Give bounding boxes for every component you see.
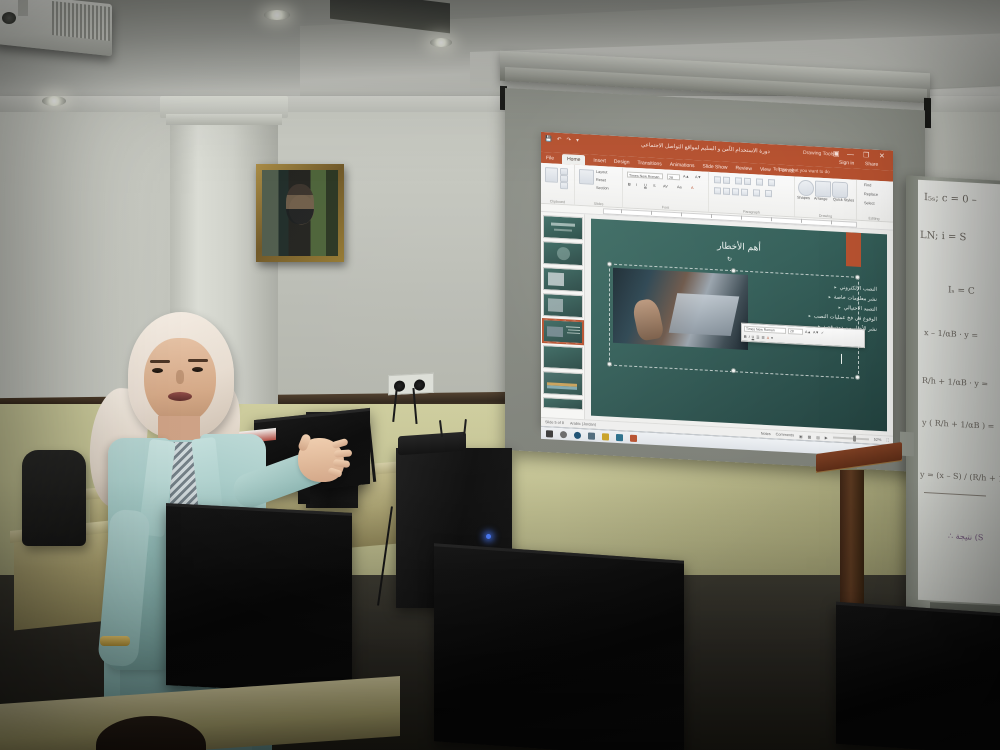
mini-format-painter-icon[interactable]: ✓ bbox=[821, 331, 824, 335]
close-button[interactable]: ✕ bbox=[879, 153, 885, 160]
font-color-icon[interactable]: A bbox=[691, 186, 694, 190]
start-icon[interactable] bbox=[546, 430, 553, 437]
tab-review[interactable]: Review bbox=[736, 165, 752, 172]
whiteboard-equation: Iₛ = C bbox=[948, 285, 975, 296]
finger bbox=[333, 459, 351, 468]
bold-icon[interactable]: B bbox=[628, 183, 631, 187]
convert-smartart-icon[interactable] bbox=[765, 190, 772, 197]
quick-access-toolbar[interactable]: 💾 ↶ ↷ ▾ bbox=[545, 136, 579, 144]
projector-mount-arm bbox=[18, 0, 28, 16]
zoom-level: 52% bbox=[874, 438, 882, 442]
monitor-foreground-center bbox=[434, 543, 684, 750]
italic-icon[interactable]: I bbox=[636, 183, 637, 187]
contextual-tab-label: Drawing Tools bbox=[803, 150, 834, 158]
whiteboard-stand-knob bbox=[900, 432, 914, 457]
task-view-icon[interactable] bbox=[588, 432, 595, 439]
downlight-icon bbox=[42, 96, 66, 106]
share-button[interactable]: Share bbox=[865, 161, 878, 168]
quick-styles-label[interactable]: Quick Styles bbox=[833, 197, 854, 202]
view-slideshow-icon[interactable]: ▶ bbox=[825, 435, 828, 440]
tab-animations[interactable]: Animations bbox=[670, 161, 695, 168]
sign-in-button[interactable]: Sign in bbox=[839, 160, 854, 167]
wristwatch bbox=[100, 636, 130, 646]
portrait-face bbox=[286, 184, 314, 224]
character-spacing-icon[interactable]: AV bbox=[663, 184, 668, 188]
lectern-column bbox=[840, 470, 864, 618]
thumb bbox=[297, 433, 312, 452]
underline-icon[interactable]: U bbox=[644, 183, 647, 187]
monitor-foreground-left bbox=[166, 503, 352, 695]
downlight-icon bbox=[264, 10, 290, 20]
left-hand bbox=[96, 650, 130, 692]
ribbon-group-editing[interactable]: Find Replace Select Editing bbox=[857, 180, 891, 222]
whiteboard-equation: I₅ₛ; c = 0 – bbox=[924, 192, 977, 206]
slide-thumbnail[interactable] bbox=[543, 293, 583, 318]
finger bbox=[327, 467, 342, 478]
ribbon-group-clipboard[interactable]: Clipboard bbox=[541, 163, 575, 205]
language-indicator[interactable]: Arabic (Jordan) bbox=[570, 421, 596, 426]
ribbon-group-font[interactable]: Times New Roman 28 A▲ A▼ B I U S AV Aa A… bbox=[623, 167, 709, 212]
screen-side-rail-right bbox=[924, 98, 931, 128]
tab-home[interactable]: Home bbox=[562, 154, 585, 165]
projection-screen: 💾 ↶ ↷ ▾ دورة الاستخدام الآمن و السليم لم… bbox=[505, 88, 925, 472]
tab-file[interactable]: File bbox=[546, 155, 554, 161]
mini-font-size[interactable]: 28 bbox=[788, 328, 803, 335]
quick-styles-icon[interactable] bbox=[832, 181, 848, 198]
tab-transitions[interactable]: Transitions bbox=[638, 160, 662, 167]
lectern bbox=[816, 448, 902, 618]
section-label[interactable]: Section bbox=[596, 186, 609, 191]
whiteboard-equation: y = (x – S) / (R/h + 1/αB) bbox=[920, 470, 1000, 485]
current-slide[interactable]: أهم الأخطار ↻ bbox=[591, 219, 887, 432]
tab-slide-show[interactable]: Slide Show bbox=[703, 163, 728, 170]
explorer-icon[interactable] bbox=[602, 433, 609, 440]
text-direction-icon[interactable] bbox=[768, 179, 775, 186]
bullets-icon[interactable] bbox=[714, 176, 721, 183]
fit-to-window-icon[interactable]: ⛶ bbox=[886, 438, 889, 442]
resize-handle[interactable] bbox=[731, 368, 736, 374]
align-center-icon[interactable] bbox=[723, 188, 730, 195]
tab-design[interactable]: Design bbox=[614, 158, 630, 165]
mini-underline-icon[interactable]: U bbox=[752, 335, 755, 339]
new-slide-icon[interactable] bbox=[579, 169, 594, 185]
downlight-icon bbox=[430, 38, 452, 47]
eyebrow-right bbox=[188, 359, 208, 362]
eye-right bbox=[192, 367, 203, 372]
whiteboard-equation: LN; i = S bbox=[920, 230, 966, 244]
whiteboard-equation: y ( R/h + 1/αB ) = bbox=[922, 418, 994, 431]
powerpoint-icon[interactable] bbox=[630, 434, 637, 441]
reset-label[interactable]: Reset bbox=[596, 178, 606, 183]
replace-label[interactable]: Replace bbox=[864, 192, 878, 197]
redo-icon[interactable]: ↷ bbox=[566, 137, 571, 143]
slide-thumbnail[interactable] bbox=[543, 241, 583, 266]
mouth bbox=[168, 392, 192, 401]
powerpoint-window[interactable]: 💾 ↶ ↷ ▾ دورة الاستخدام الآمن و السليم لم… bbox=[541, 132, 893, 445]
mini-font-color-icon[interactable]: A bbox=[767, 336, 769, 340]
grow-font-icon[interactable]: A▲ bbox=[683, 174, 689, 178]
document-title: دورة الاستخدام الآمن و السليم لمواقع الت… bbox=[641, 142, 770, 155]
font-size-input[interactable]: 28 bbox=[667, 174, 680, 181]
shapes-icon[interactable] bbox=[798, 180, 814, 197]
mini-more-icon[interactable]: ▾ bbox=[771, 336, 773, 340]
resize-handle[interactable] bbox=[855, 275, 860, 281]
undo-icon[interactable]: ↶ bbox=[557, 137, 562, 143]
select-label[interactable]: Select bbox=[864, 201, 875, 206]
right-hand-gesture bbox=[298, 438, 344, 482]
rotate-handle-icon[interactable]: ↻ bbox=[727, 256, 732, 263]
align-left-icon[interactable] bbox=[714, 187, 721, 194]
layout-label[interactable]: Layout bbox=[596, 170, 607, 175]
classroom-photo-scene: 💾 ↶ ↷ ▾ دورة الاستخدام الآمن و السليم لم… bbox=[0, 0, 1000, 750]
shapes-label[interactable]: Shapes bbox=[797, 196, 810, 201]
view-slide-sorter-icon[interactable]: ▦ bbox=[808, 434, 812, 439]
slide-editing-stage[interactable]: أهم الأخطار ↻ bbox=[585, 214, 893, 435]
slide-thumbnail-selected[interactable] bbox=[543, 319, 583, 344]
powerpoint-body: أهم الأخطار ↻ bbox=[541, 212, 893, 436]
arrange-icon[interactable] bbox=[815, 181, 831, 198]
mini-align-center-icon[interactable]: ☰ bbox=[761, 336, 764, 340]
mini-grow-font-icon[interactable]: A▲ bbox=[805, 330, 811, 334]
arrange-label[interactable]: Arrange bbox=[814, 196, 828, 201]
comments-button[interactable]: Comments bbox=[776, 432, 794, 437]
change-case-icon[interactable]: Aa bbox=[677, 185, 682, 189]
slide-thumbnail[interactable] bbox=[543, 215, 583, 240]
font-name-input[interactable]: Times New Roman bbox=[627, 172, 663, 180]
text-cursor bbox=[841, 354, 842, 364]
resize-handle[interactable] bbox=[607, 361, 612, 367]
save-icon[interactable]: 💾 bbox=[545, 136, 552, 142]
paste-icon[interactable] bbox=[545, 167, 558, 183]
ribbon-group-drawing[interactable]: Shapes Arrange Quick Styles Drawing bbox=[795, 176, 857, 219]
portrait-photo bbox=[262, 170, 338, 256]
tab-view[interactable]: View bbox=[760, 166, 771, 173]
slide-title[interactable]: أهم الأخطار bbox=[591, 235, 887, 261]
nose bbox=[176, 370, 184, 384]
neck bbox=[158, 416, 200, 440]
ribbon-display-options-icon[interactable]: ▣ bbox=[833, 150, 840, 157]
pillar-capital-lower bbox=[166, 114, 282, 125]
decrease-indent-icon[interactable] bbox=[735, 177, 742, 184]
whiteboard-annotation: ∴ نتيجة (S bbox=[948, 531, 983, 542]
zoom-slider[interactable] bbox=[833, 436, 869, 440]
slide-thumbnail[interactable] bbox=[543, 397, 583, 410]
slide-counter: Slide 5 of 8 bbox=[545, 420, 564, 425]
align-right-icon[interactable] bbox=[732, 188, 739, 195]
view-normal-icon[interactable]: ▣ bbox=[799, 433, 803, 438]
whiteboard-equation: R/h + 1/αB · y = bbox=[922, 376, 988, 389]
mini-shrink-font-icon[interactable]: A▼ bbox=[813, 330, 819, 334]
view-reading-icon[interactable]: ▤ bbox=[816, 434, 820, 439]
framed-portrait bbox=[256, 164, 344, 262]
restore-button[interactable]: ❐ bbox=[863, 152, 869, 159]
projector-vent-icon bbox=[52, 1, 110, 41]
strikethrough-icon[interactable]: S bbox=[653, 184, 656, 188]
columns-icon[interactable] bbox=[753, 189, 760, 196]
find-label[interactable]: Find bbox=[864, 183, 871, 187]
ribbon-group-paragraph[interactable]: Paragraph bbox=[709, 172, 795, 217]
slide-thumbnail[interactable] bbox=[543, 267, 583, 292]
line-spacing-icon[interactable] bbox=[756, 178, 763, 185]
justify-icon[interactable] bbox=[741, 189, 748, 196]
mini-italic-icon[interactable]: I bbox=[749, 335, 750, 339]
slide-thumbnail-pane[interactable] bbox=[541, 212, 585, 419]
notes-button[interactable]: Notes bbox=[761, 432, 771, 437]
eyebrow-left bbox=[150, 360, 170, 363]
minimize-button[interactable]: — bbox=[847, 151, 854, 158]
resize-handle[interactable] bbox=[855, 375, 860, 381]
tab-insert[interactable]: Insert bbox=[593, 157, 606, 164]
numbering-icon[interactable] bbox=[723, 177, 730, 184]
whiteboard: I₅ₛ; c = 0 – LN; i = S Iₛ = C x – 1/αB ·… bbox=[918, 180, 1000, 605]
monitor-foreground-right bbox=[836, 602, 1000, 750]
power-led-indicator bbox=[486, 534, 491, 539]
ribbon-group-slides[interactable]: Layout Reset Section Slides bbox=[575, 165, 623, 208]
search-icon[interactable] bbox=[560, 430, 567, 437]
slide-thumbnail[interactable] bbox=[543, 371, 583, 396]
eye-left bbox=[152, 368, 163, 373]
chevron-down-icon[interactable]: ▾ bbox=[576, 138, 579, 144]
finger bbox=[334, 449, 352, 457]
whiteboard-underline bbox=[924, 492, 986, 496]
shrink-font-icon[interactable]: A▼ bbox=[695, 175, 701, 179]
increase-indent-icon[interactable] bbox=[744, 178, 751, 185]
format-painter-icon[interactable] bbox=[560, 182, 568, 189]
mini-bold-icon[interactable]: B bbox=[744, 335, 747, 339]
mini-align-left-icon[interactable]: ☰ bbox=[756, 335, 759, 339]
power-plug-icon bbox=[414, 379, 425, 391]
whiteboard-equation: x – 1/αB · y = bbox=[924, 328, 978, 340]
projector-lens-icon bbox=[2, 12, 16, 24]
cortana-icon[interactable] bbox=[574, 431, 581, 438]
store-icon[interactable] bbox=[616, 433, 623, 440]
slide-thumbnail[interactable] bbox=[543, 345, 583, 370]
